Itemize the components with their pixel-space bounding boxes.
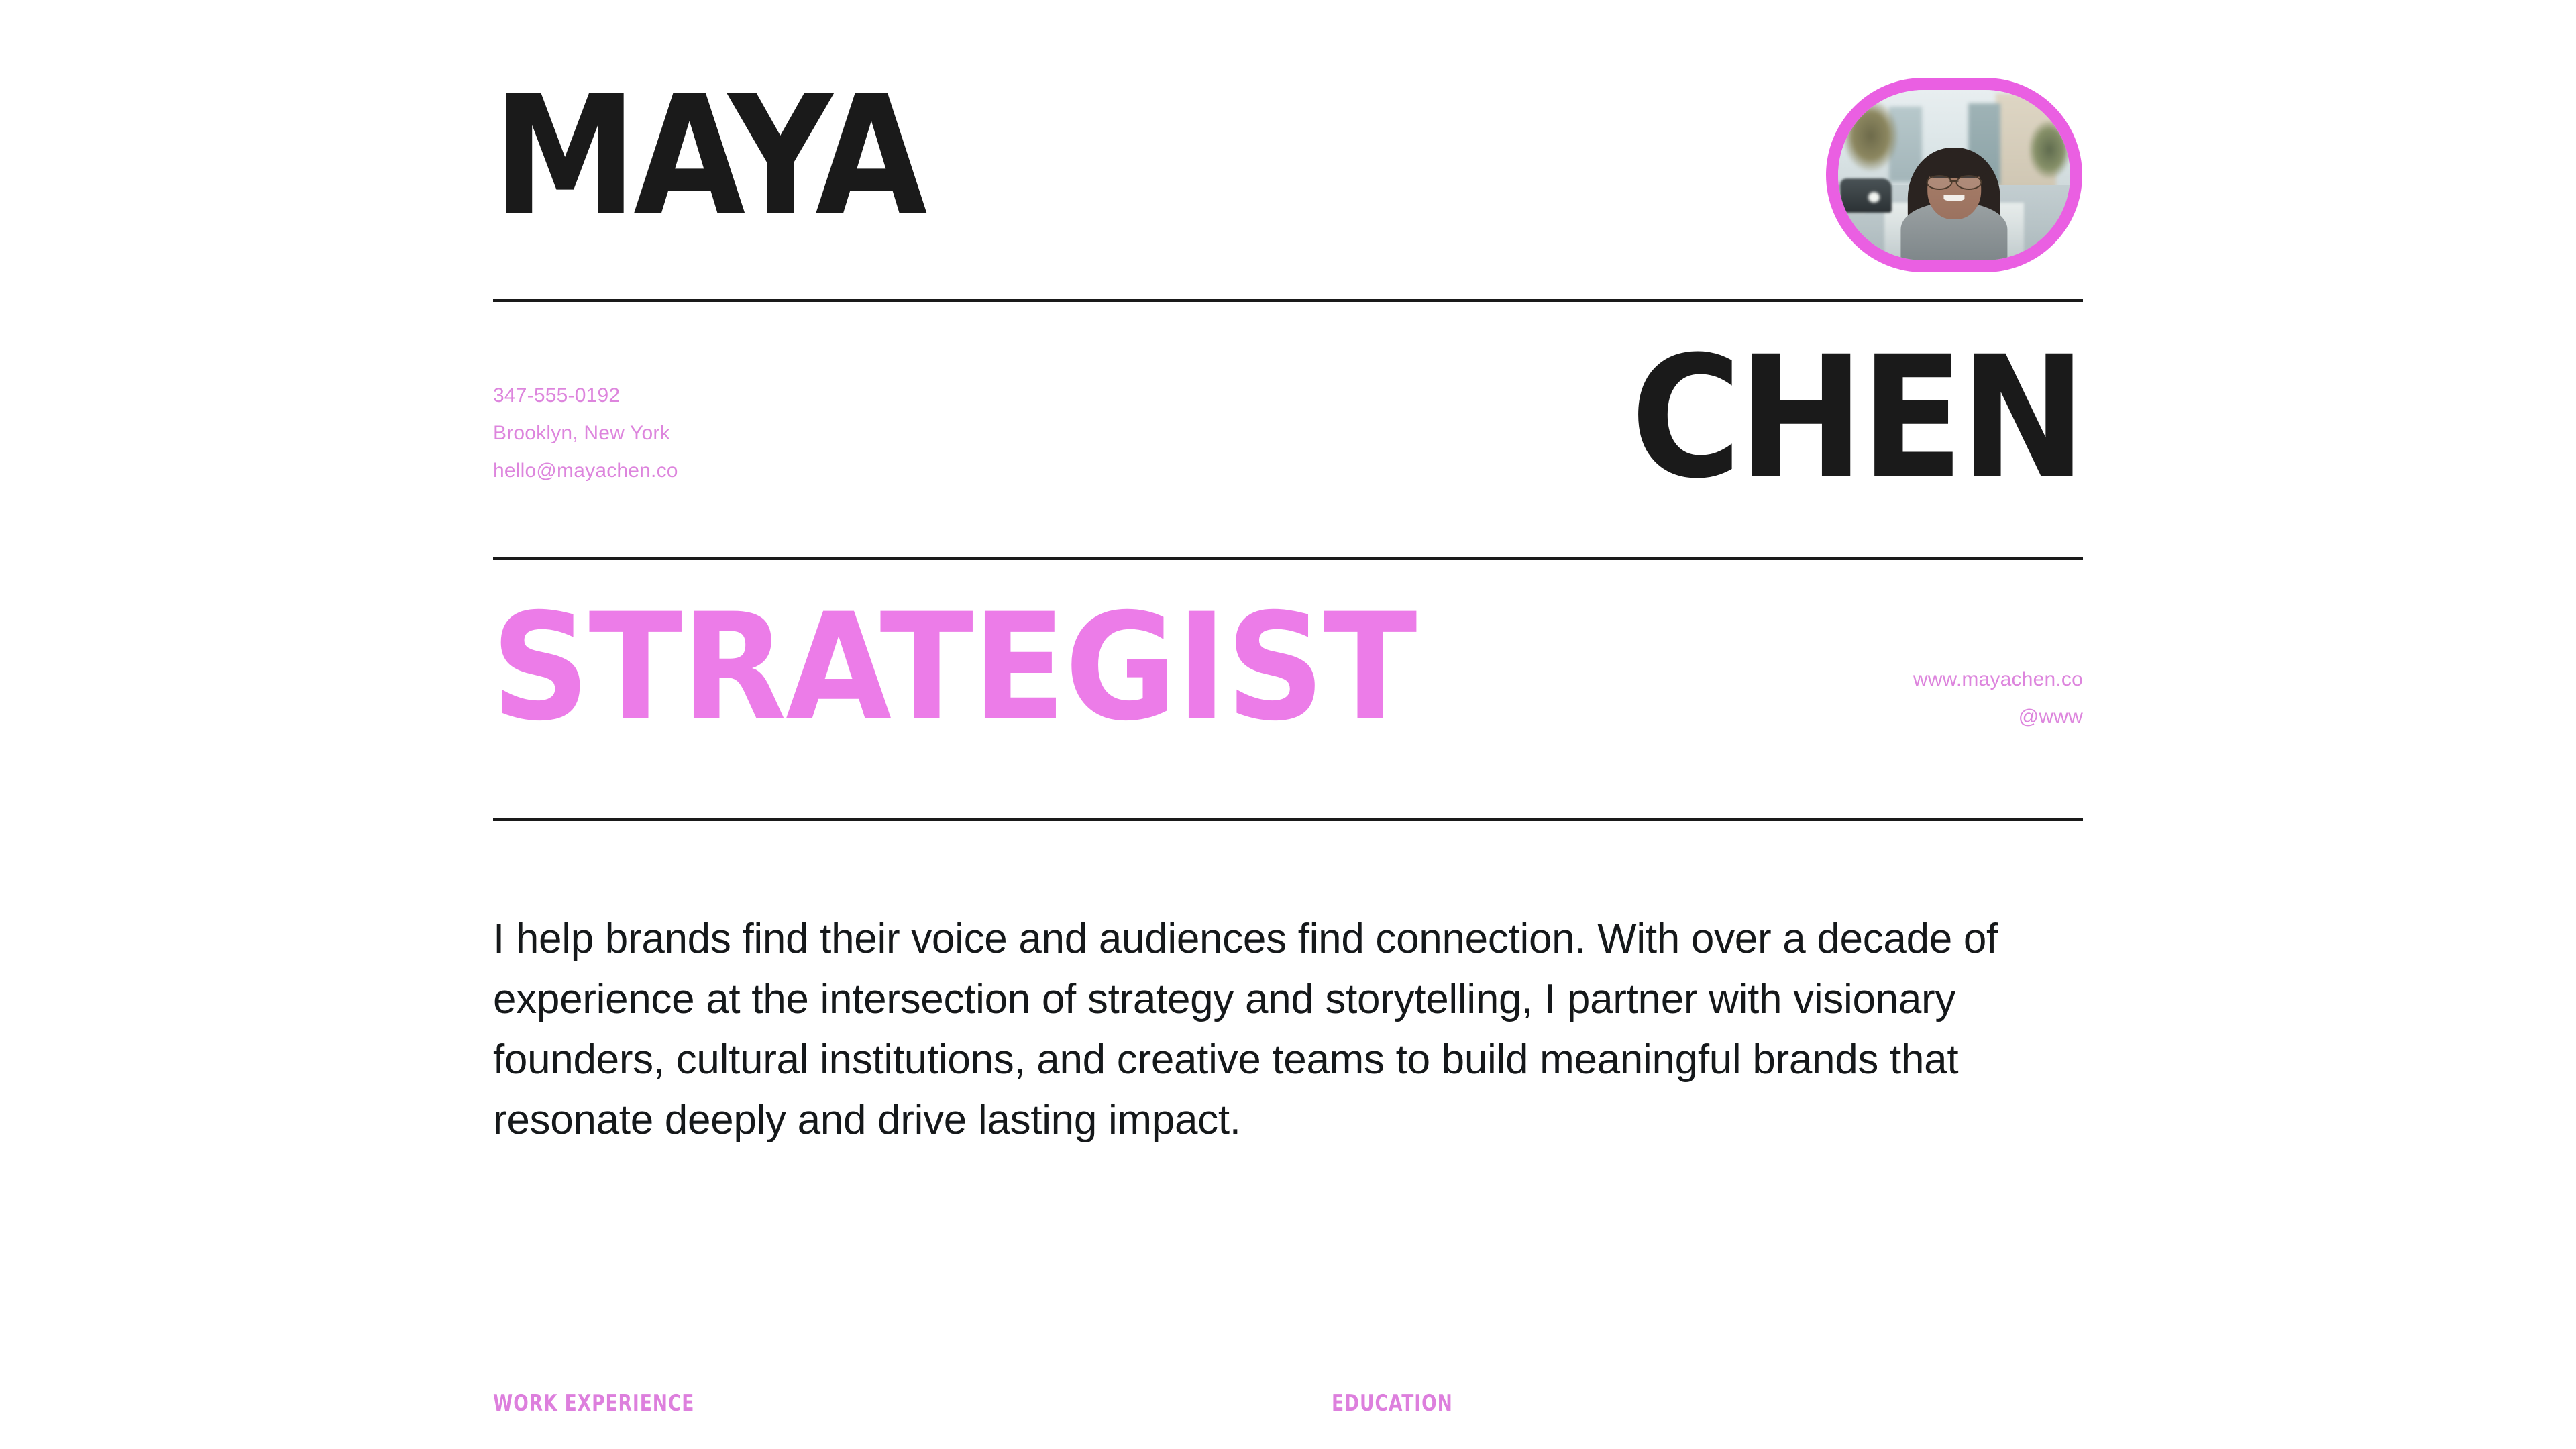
photo-tree-right <box>2029 121 2070 178</box>
link-website[interactable]: www.mayachen.co <box>493 661 2083 698</box>
photo-hair-top <box>1922 151 1987 178</box>
summary-text: I help brands find their voice and audie… <box>493 909 2090 1150</box>
photo-lens-right <box>1956 175 1982 190</box>
portrait-photo <box>1838 90 2070 260</box>
link-social[interactable]: @www <box>493 698 2083 736</box>
photo-tree-left <box>1843 100 1898 172</box>
section-heading-education: EDUCATION <box>1332 1390 1453 1417</box>
photo-lens-left <box>1926 175 1952 190</box>
last-name-container: CHEN <box>493 342 2083 493</box>
divider-top <box>493 299 2083 302</box>
divider-middle <box>493 557 2083 560</box>
photo-car-dark <box>1840 178 1891 213</box>
links-block: www.mayachen.co @www <box>493 661 2083 736</box>
first-name-heading: MAYA <box>493 80 924 231</box>
divider-bottom <box>493 818 2083 821</box>
resume-page: MAYA 347- <box>0 0 2576 1449</box>
last-name-heading: CHEN <box>1631 342 2083 493</box>
avatar[interactable] <box>1826 78 2082 272</box>
glasses-icon <box>1926 175 1982 187</box>
section-heading-work-experience: WORK EXPERIENCE <box>493 1390 694 1417</box>
photo-headlight <box>1868 192 1880 202</box>
summary-block: I help brands find their voice and audie… <box>493 909 2090 1150</box>
